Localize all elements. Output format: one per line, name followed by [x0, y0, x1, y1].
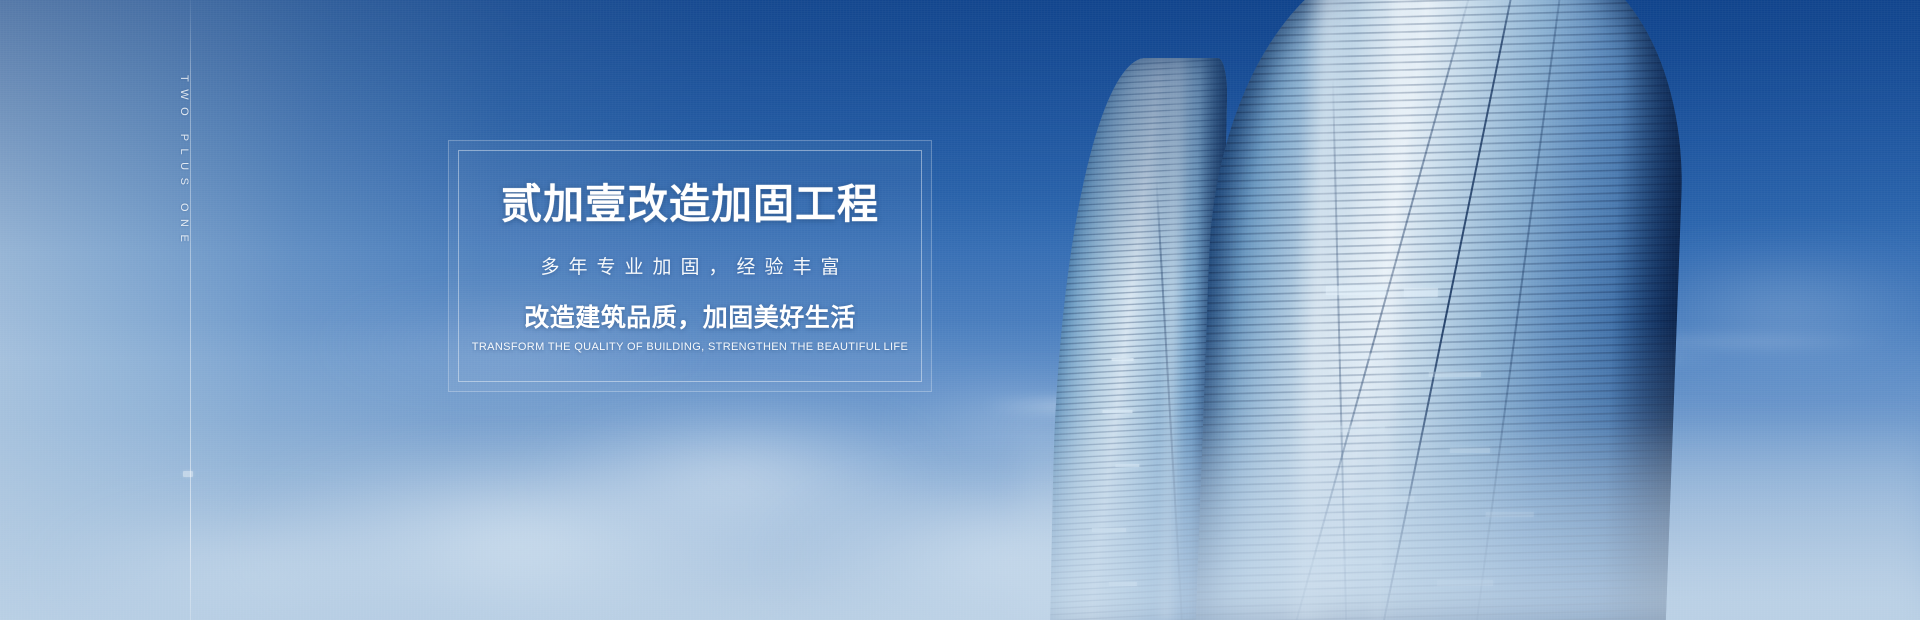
- tower-window: [1326, 286, 1386, 295]
- hero-banner: TWO PLUS ONE 贰加壹改造加固工程 多年专业加固，经验丰富 改造建筑品…: [0, 0, 1920, 620]
- hero-subtitle: 多年专业加固，经验丰富: [531, 258, 848, 277]
- sky-bottom-haze: [0, 320, 1920, 620]
- hero-slogan-cn: 改造建筑品质，加固美好生活: [524, 305, 856, 330]
- hero-slogan-en: TRANSFORM THE QUALITY OF BUILDING, STREN…: [472, 342, 908, 353]
- tower-window: [1404, 288, 1438, 297]
- hero-panel-content: 贰加壹改造加固工程 多年专业加固，经验丰富 改造建筑品质，加固美好生活 TRAN…: [449, 141, 931, 391]
- vertical-divider-line: [190, 0, 191, 620]
- vertical-rule-marker: [183, 471, 193, 477]
- hero-text-panel: 贰加壹改造加固工程 多年专业加固，经验丰富 改造建筑品质，加固美好生活 TRAN…: [448, 140, 932, 392]
- hero-title: 贰加壹改造加固工程: [501, 184, 879, 225]
- vertical-brand-label: TWO PLUS ONE: [178, 75, 190, 249]
